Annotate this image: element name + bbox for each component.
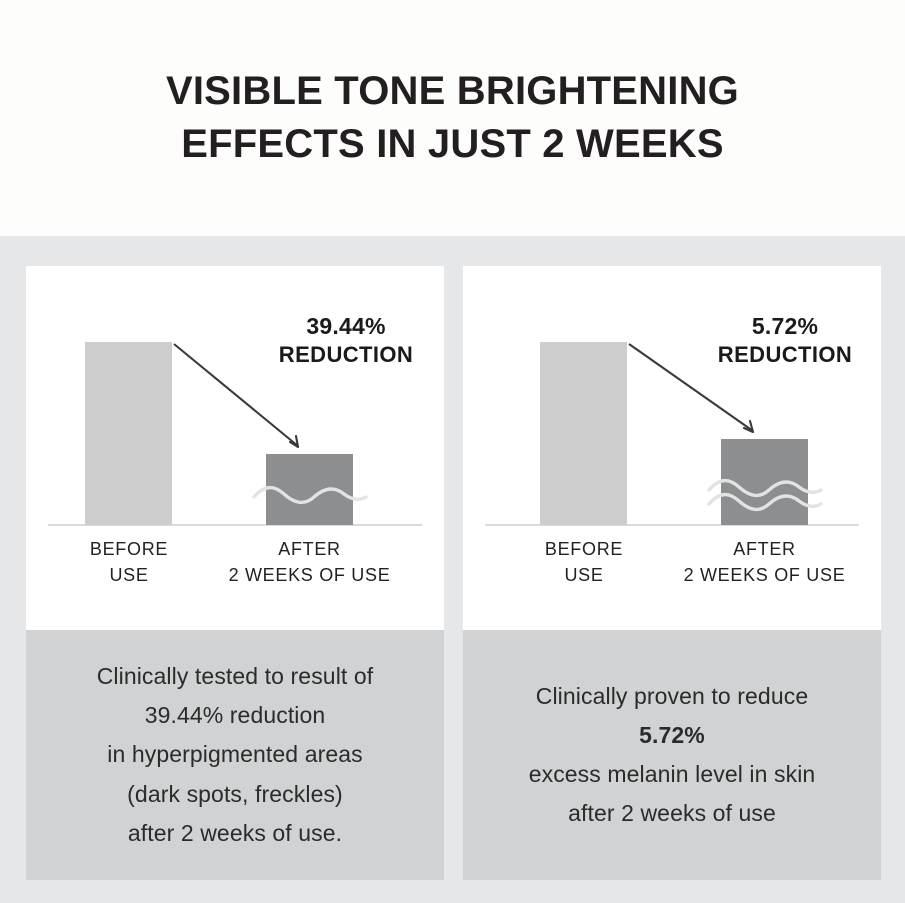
reduction-word: REDUCTION bbox=[256, 341, 436, 369]
caption-panel-hyperpigmentation: Clinically tested to result of 39.44% re… bbox=[26, 630, 444, 880]
reduction-percent: 39.44% bbox=[256, 312, 436, 341]
chart-panel-melanin: 5.72% REDUCTION BEFORE USE AFTER 2 WEEKS… bbox=[463, 266, 881, 630]
axis-label-after-line2: 2 WEEKS OF USE bbox=[212, 562, 407, 588]
axis-label-before-line1: BEFORE bbox=[90, 539, 168, 559]
reduction-word: REDUCTION bbox=[695, 341, 875, 369]
page-title-line-2: EFFECTS IN JUST 2 WEEKS bbox=[181, 118, 723, 171]
page-title-line-1: VISIBLE TONE BRIGHTENING bbox=[166, 65, 739, 118]
caption-line-4: after 2 weeks of use bbox=[568, 794, 776, 833]
caption-line-1: Clinically tested to result of bbox=[97, 657, 374, 696]
caption-line-2: 39.44% reduction bbox=[145, 696, 326, 735]
axis-label-after: AFTER 2 WEEKS OF USE bbox=[667, 536, 862, 588]
caption-line-2-strong: 39.44% bbox=[145, 702, 224, 728]
axis-label-after-line2: 2 WEEKS OF USE bbox=[667, 562, 862, 588]
cards-container: 39.44% REDUCTION BEFORE USE AFTER 2 WEEK… bbox=[0, 236, 905, 903]
caption-line-3: in hyperpigmented areas bbox=[107, 735, 362, 774]
page-header: VISIBLE TONE BRIGHTENING EFFECTS IN JUST… bbox=[0, 0, 905, 236]
reduction-callout: 39.44% REDUCTION bbox=[256, 312, 436, 369]
axis-label-after: AFTER 2 WEEKS OF USE bbox=[212, 536, 407, 588]
card-melanin: 5.72% REDUCTION BEFORE USE AFTER 2 WEEKS… bbox=[463, 266, 881, 880]
caption-line-5: after 2 weeks of use. bbox=[128, 814, 342, 853]
axis-label-before-line1: BEFORE bbox=[545, 539, 623, 559]
axis-label-after-line1: AFTER bbox=[733, 539, 796, 559]
bar-before-use bbox=[540, 342, 627, 525]
axis-label-before-line2: USE bbox=[58, 562, 200, 588]
bar-before-use bbox=[85, 342, 172, 525]
reduction-percent: 5.72% bbox=[695, 312, 875, 341]
axis-label-before: BEFORE USE bbox=[513, 536, 655, 588]
caption-line-3: excess melanin level in skin bbox=[529, 755, 816, 794]
caption-line-4: (dark spots, freckles) bbox=[127, 775, 343, 814]
caption-line-2-rest: reduction bbox=[223, 702, 325, 728]
axis-label-before: BEFORE USE bbox=[58, 536, 200, 588]
caption-panel-melanin: Clinically proven to reduce 5.72% excess… bbox=[463, 630, 881, 880]
axis-label-before-line2: USE bbox=[513, 562, 655, 588]
card-hyperpigmentation: 39.44% REDUCTION BEFORE USE AFTER 2 WEEK… bbox=[26, 266, 444, 880]
caption-line-2: 5.72% bbox=[639, 716, 705, 755]
axis-label-after-line1: AFTER bbox=[278, 539, 341, 559]
caption-line-1: Clinically proven to reduce bbox=[536, 677, 808, 716]
chart-panel-hyperpigmentation: 39.44% REDUCTION BEFORE USE AFTER 2 WEEK… bbox=[26, 266, 444, 630]
reduction-callout: 5.72% REDUCTION bbox=[695, 312, 875, 369]
